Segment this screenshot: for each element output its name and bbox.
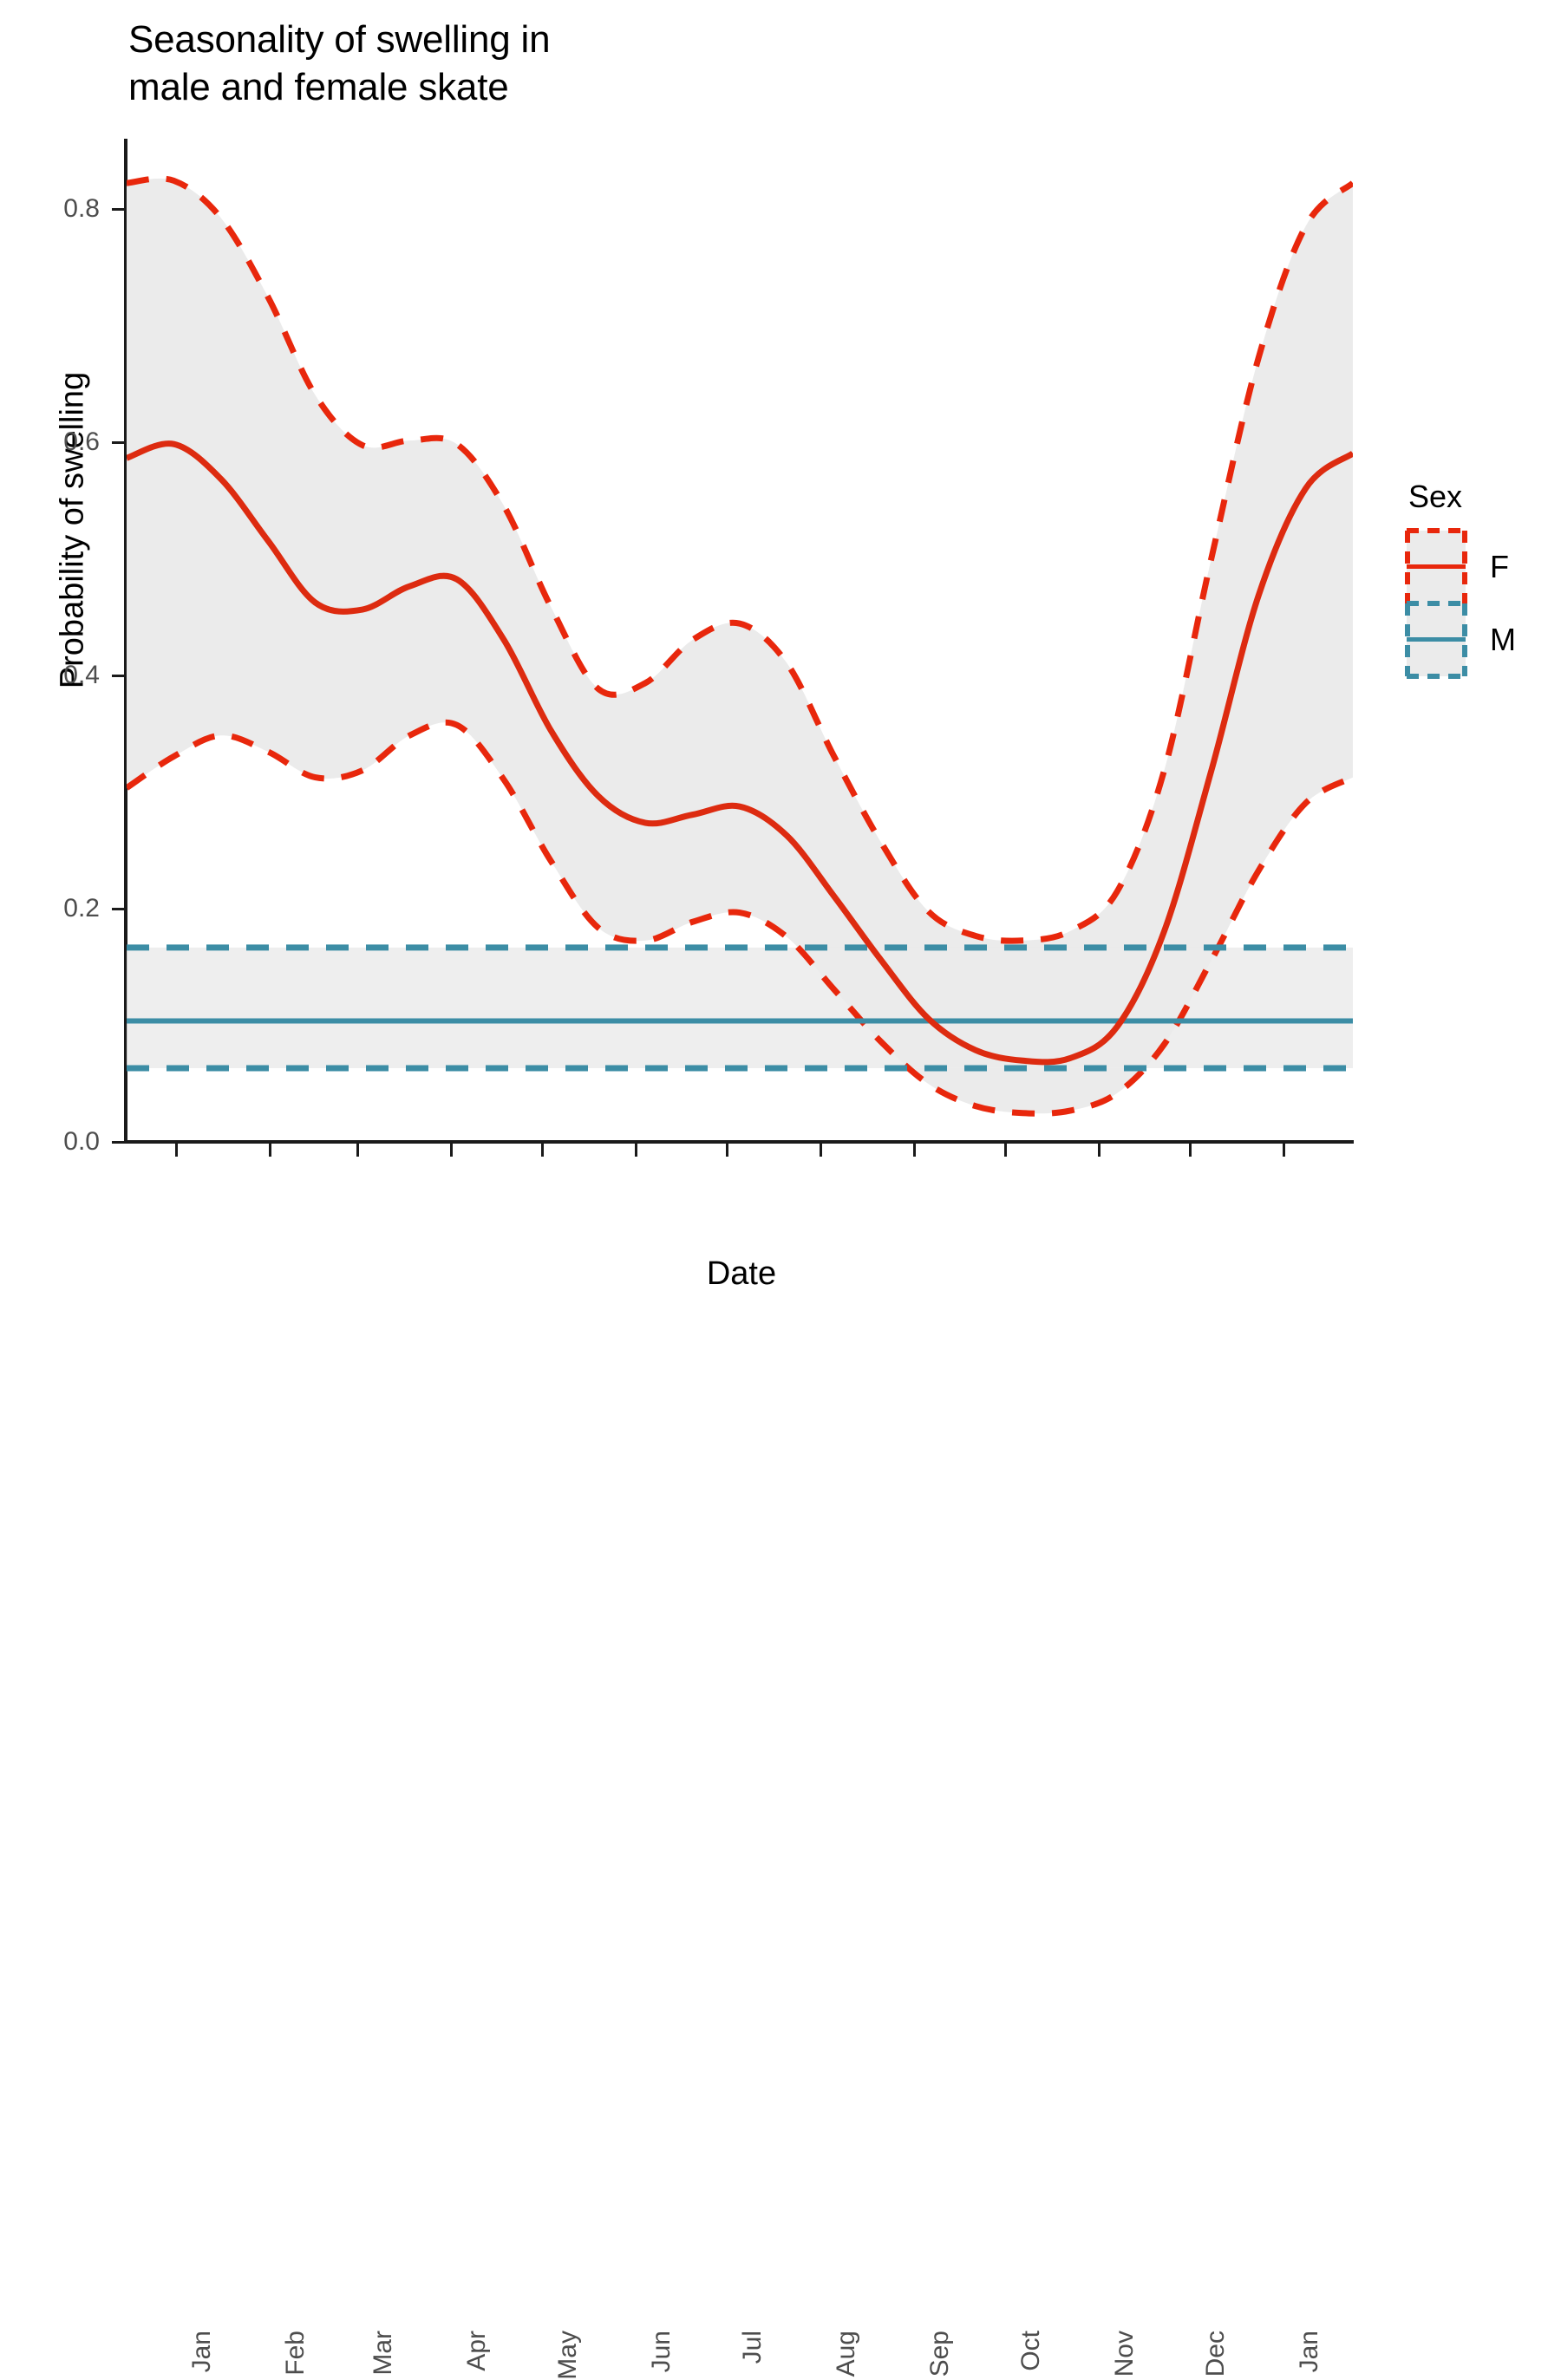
legend-label-m: M — [1490, 622, 1516, 658]
y-tick-label: 0.4 — [4, 661, 100, 690]
legend-solid-line-icon — [1407, 637, 1466, 642]
x-tick-mark — [175, 1144, 178, 1157]
y-axis-title: Probability of swelling — [55, 288, 92, 773]
x-tick-mark — [541, 1144, 544, 1157]
x-tick-mark — [635, 1144, 637, 1157]
plot-svg — [127, 139, 1353, 1141]
x-tick-mark — [269, 1144, 271, 1157]
x-tick-label: Sep — [925, 2331, 955, 2377]
y-tick-label: 0.6 — [4, 427, 100, 457]
x-tick-label: Jun — [647, 2331, 676, 2372]
legend-dashed-top-icon — [1407, 601, 1466, 606]
legend: Sex F M — [1407, 479, 1554, 676]
legend-label-f: F — [1490, 549, 1509, 585]
male-confidence-ribbon — [127, 948, 1353, 1068]
male-ribbon-group — [127, 948, 1353, 1068]
y-tick-label: 0.0 — [4, 1127, 100, 1157]
x-tick-mark — [1098, 1144, 1101, 1157]
x-tick-mark — [450, 1144, 453, 1157]
legend-item-m[interactable]: M — [1407, 603, 1554, 676]
x-tick-label: May — [553, 2331, 583, 2380]
y-tick-mark — [112, 208, 124, 211]
y-tick-label: 0.2 — [4, 894, 100, 923]
x-tick-mark — [913, 1144, 916, 1157]
x-tick-label: Apr — [462, 2331, 492, 2371]
x-tick-mark — [1189, 1144, 1192, 1157]
x-tick-mark — [726, 1144, 728, 1157]
x-tick-mark — [1004, 1144, 1007, 1157]
x-tick-label: Aug — [832, 2331, 861, 2377]
legend-key-f — [1407, 531, 1466, 603]
y-tick-mark — [112, 908, 124, 910]
x-axis-title: Date — [130, 1255, 1353, 1293]
x-tick-label: Jan — [1295, 2331, 1324, 2372]
x-tick-label: Oct — [1016, 2331, 1046, 2371]
chart-title: Seasonality of swelling in male and fema… — [128, 16, 550, 111]
x-tick-label: Jul — [738, 2331, 767, 2364]
y-tick-mark — [112, 441, 124, 444]
y-tick-mark — [112, 675, 124, 677]
x-tick-label: Jan — [187, 2331, 217, 2372]
x-tick-label: Feb — [281, 2331, 310, 2376]
legend-dashed-bottom-icon — [1407, 674, 1466, 679]
y-tick-mark — [112, 1141, 124, 1144]
x-tick-mark — [356, 1144, 359, 1157]
plot-panel — [127, 139, 1353, 1141]
chart-figure: Seasonality of swelling in male and fema… — [0, 0, 1561, 1301]
legend-dashed-top-icon — [1407, 528, 1466, 533]
legend-solid-line-icon — [1407, 564, 1466, 569]
legend-title: Sex — [1408, 479, 1554, 515]
x-tick-label: Mar — [369, 2331, 398, 2376]
y-tick-label: 0.8 — [4, 194, 100, 224]
legend-item-f[interactable]: F — [1407, 531, 1554, 603]
x-tick-label: Nov — [1110, 2331, 1140, 2377]
x-tick-mark — [1283, 1144, 1285, 1157]
x-tick-mark — [820, 1144, 822, 1157]
legend-key-m — [1407, 603, 1466, 676]
x-tick-label: Dec — [1201, 2331, 1231, 2377]
